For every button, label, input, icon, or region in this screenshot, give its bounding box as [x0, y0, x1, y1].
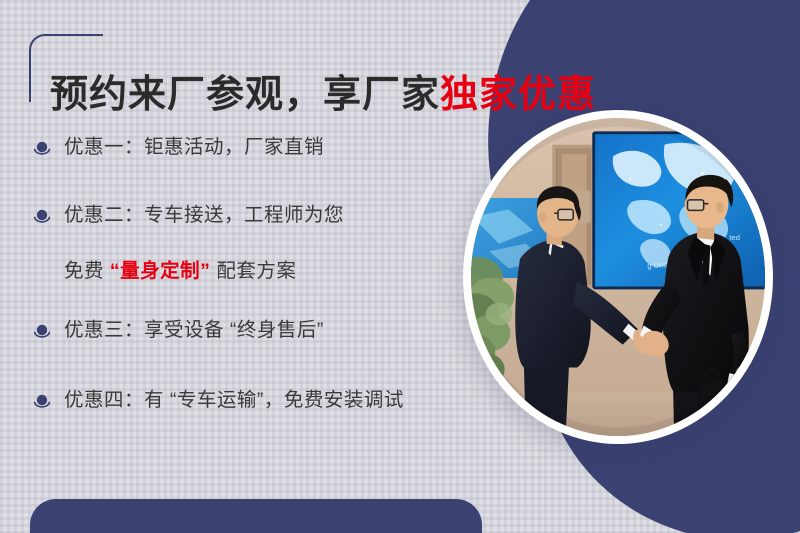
list-item: 优惠一：钜惠活动，厂家直销: [30, 134, 500, 162]
circle-smile-bullet-icon: [30, 205, 54, 229]
list-item-subline: 免费 “量身定制” 配套方案: [30, 254, 500, 283]
page-title: 预约来厂参观，享厂家独家优惠: [50, 74, 596, 118]
list-item: 优惠二：专车接送，工程师为您: [30, 202, 500, 230]
headline-accent: 独家优惠: [440, 74, 596, 116]
subline-after: 配套方案: [210, 260, 296, 282]
subline-before: 免费: [64, 260, 110, 282]
list-item-text: 优惠四：有 “专车运输”，免费安装调试: [64, 387, 404, 413]
list-item-text: 优惠一：钜惠活动，厂家直销: [64, 134, 324, 160]
circle-smile-bullet-icon: [30, 390, 54, 414]
subline-highlight: “量身定制”: [110, 260, 211, 282]
list-spacer: [30, 283, 500, 317]
promo-banner: g United ted: [0, 0, 800, 533]
headline-plain: 预约来厂参观，享厂家: [50, 74, 440, 116]
list-spacer: [30, 162, 500, 202]
navy-rounded-bottom-bar: [30, 499, 482, 533]
list-item: 优惠三：享受设备 “终身售后”: [30, 317, 500, 345]
list-spacer: [30, 345, 500, 387]
circle-smile-bullet-icon: [30, 137, 54, 161]
list-item-text: 优惠二：专车接送，工程师为您: [64, 202, 344, 228]
list-item-text: 优惠三：享受设备 “终身售后”: [64, 317, 324, 343]
benefits-list: 优惠一：钜惠活动，厂家直销 优惠二：专车接送，工程师为您 免费 “量身定制” 配…: [30, 134, 500, 415]
handshake-photo: g United ted: [471, 118, 765, 436]
list-item: 优惠四：有 “专车运输”，免费安装调试: [30, 387, 500, 415]
photo-circle-frame: g United ted: [463, 110, 773, 444]
circle-smile-bullet-icon: [30, 320, 54, 344]
svg-text:ted: ted: [729, 233, 740, 242]
